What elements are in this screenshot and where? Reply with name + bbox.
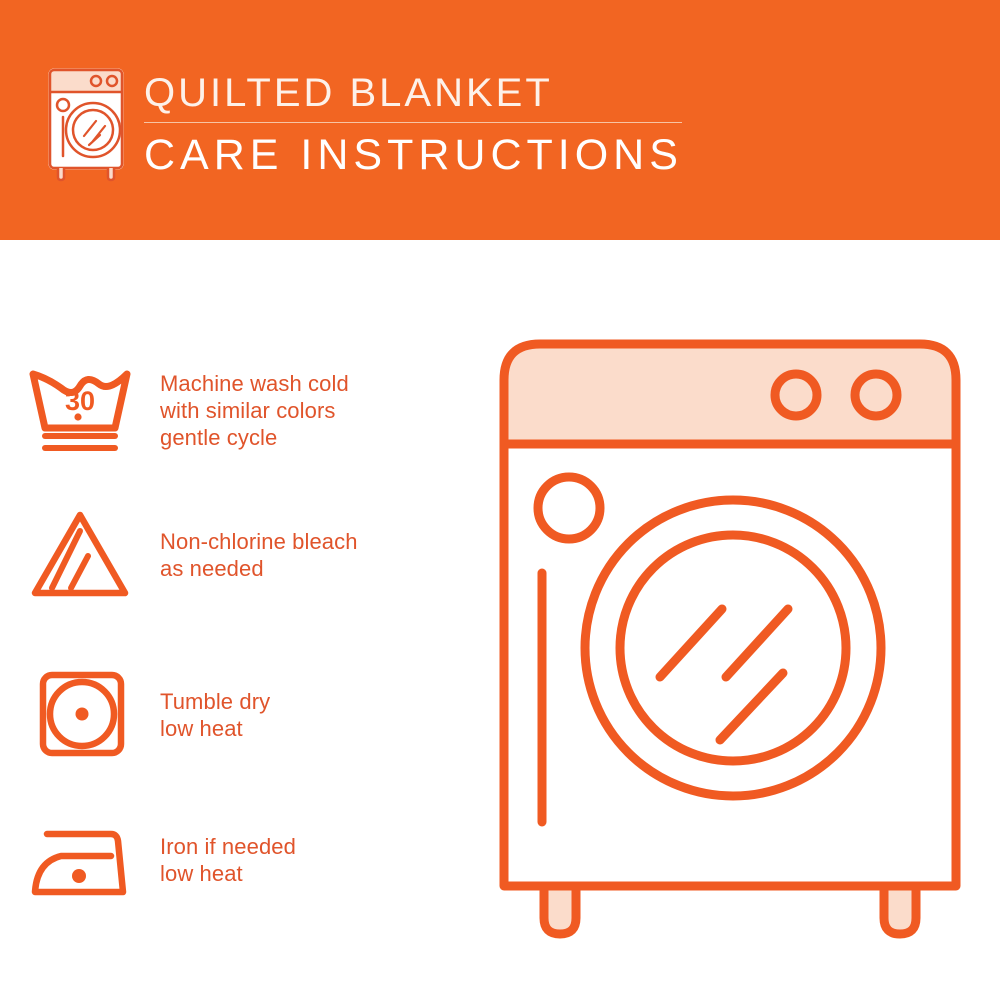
leg bbox=[544, 886, 576, 934]
care-label-tumble-dry: Tumble dry low heat bbox=[160, 688, 270, 742]
wash-temperature-value: 30 bbox=[65, 386, 95, 416]
wash-tub-30-icon: 30 bbox=[0, 350, 160, 470]
page-title-secondary: CARE INSTRUCTIONS bbox=[144, 130, 704, 180]
care-label-bleach: Non-chlorine bleach as needed bbox=[160, 528, 358, 582]
washing-machine-illustration bbox=[490, 330, 970, 940]
care-row-iron: Iron if needed low heat bbox=[0, 790, 480, 930]
care-instructions-page: QUILTED BLANKET CARE INSTRUCTIONS 30 Mac… bbox=[0, 0, 1000, 1000]
header-band: QUILTED BLANKET CARE INSTRUCTIONS bbox=[0, 0, 1000, 240]
iron-low-heat-icon bbox=[0, 800, 160, 920]
non-chlorine-bleach-triangle-icon bbox=[0, 495, 160, 615]
tumble-dry-low-icon bbox=[0, 655, 160, 775]
header-title-block: QUILTED BLANKET CARE INSTRUCTIONS bbox=[144, 70, 704, 180]
care-row-machine-wash: 30 Machine wash cold with similar colors… bbox=[0, 340, 480, 480]
care-label-machine-wash: Machine wash cold with similar colors ge… bbox=[160, 370, 349, 451]
care-row-bleach: Non-chlorine bleach as needed bbox=[0, 485, 480, 625]
care-row-tumble-dry: Tumble dry low heat bbox=[0, 645, 480, 785]
leg bbox=[884, 886, 916, 934]
page-title-primary: QUILTED BLANKET bbox=[144, 70, 704, 116]
title-divider bbox=[144, 122, 682, 123]
control-panel bbox=[504, 344, 956, 444]
care-instruction-list: 30 Machine wash cold with similar colors… bbox=[0, 240, 480, 1000]
care-label-iron: Iron if needed low heat bbox=[160, 833, 296, 887]
washing-machine-icon bbox=[42, 64, 134, 182]
